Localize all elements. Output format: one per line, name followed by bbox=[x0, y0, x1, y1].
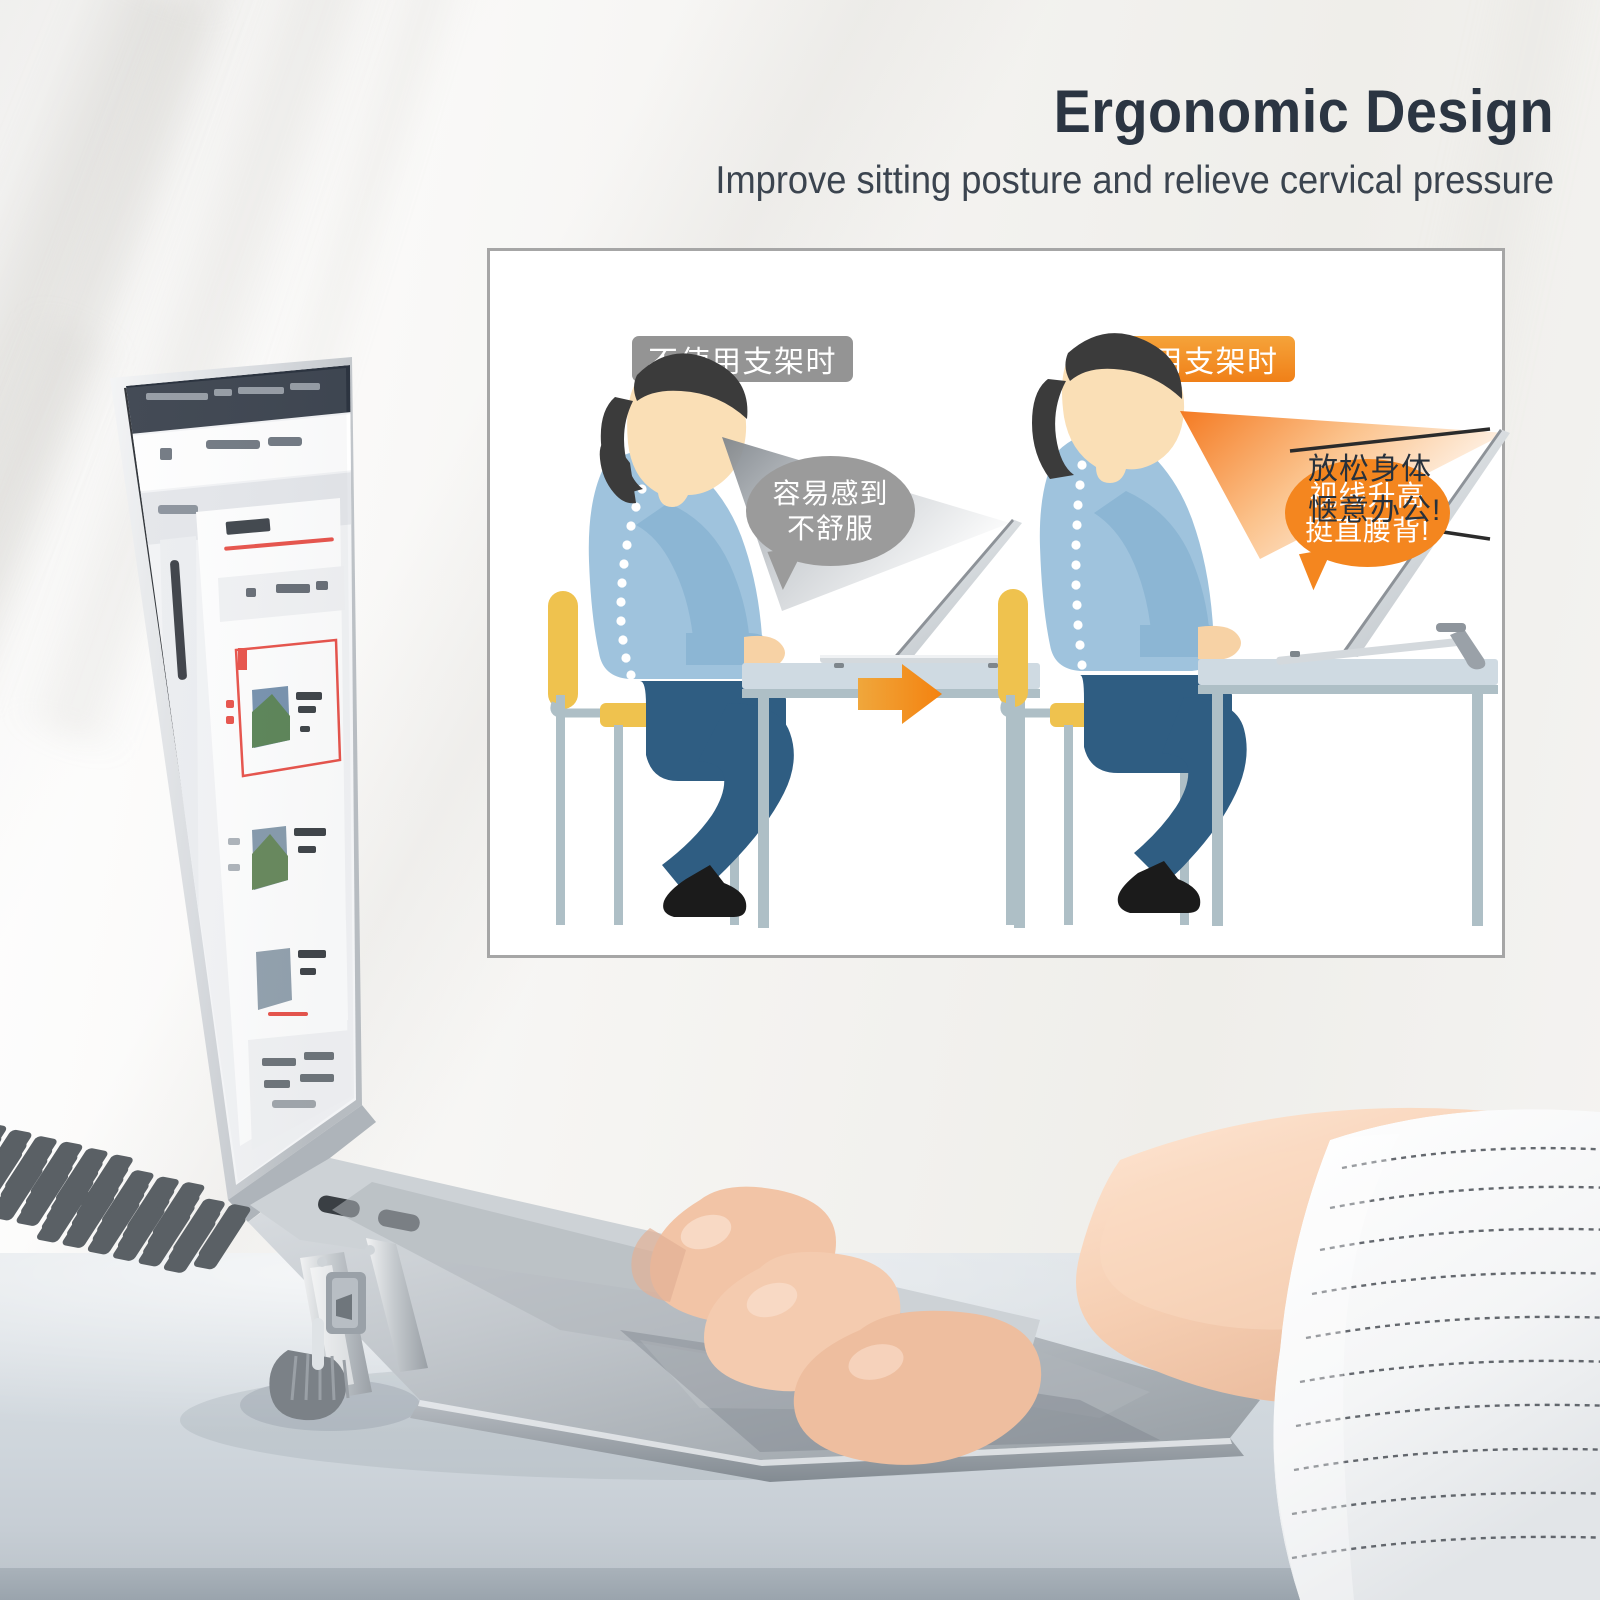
keyboard-keys bbox=[0, 1099, 252, 1274]
striped-shirt-sleeve bbox=[1273, 1109, 1600, 1600]
stand-slot bbox=[312, 1318, 324, 1370]
product-photo-laptop-on-stand bbox=[0, 0, 1600, 1600]
stand-pivot bbox=[317, 1257, 327, 1267]
laptop-display bbox=[100, 350, 380, 1222]
screenshot-stage: Ergonomic Design Improve sitting posture… bbox=[0, 0, 1600, 1600]
stand-pivot bbox=[365, 1245, 375, 1255]
